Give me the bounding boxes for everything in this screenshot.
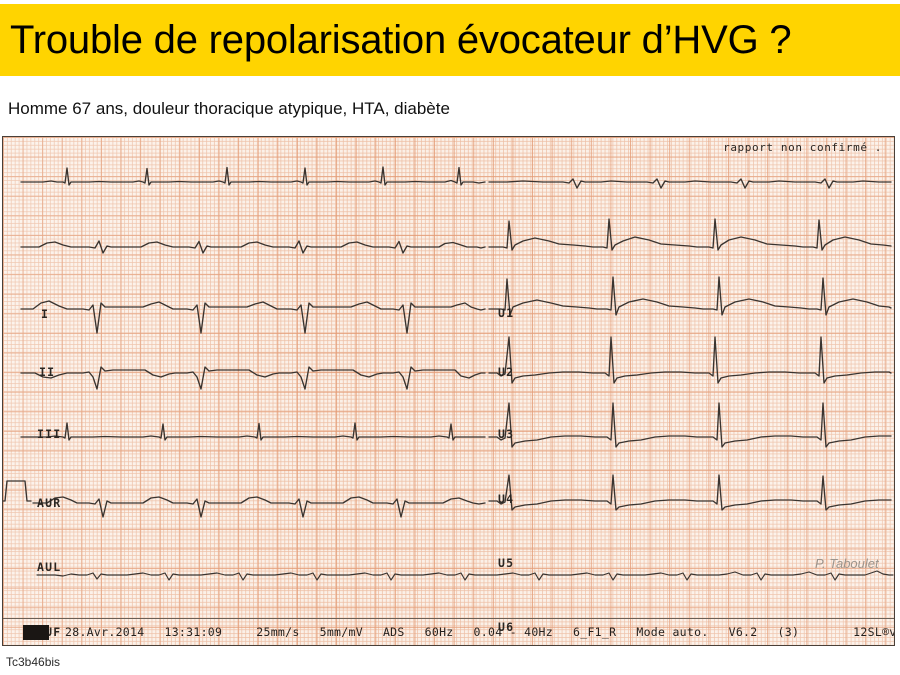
ecg-report-note: rapport non confirmé . (723, 141, 882, 154)
ecg-trace-lead-II (21, 241, 485, 253)
ecg-trace-lead-V4 (489, 337, 891, 383)
ecg-footer-parameters: 28.Avr.2014 13:31:09 25mm/s 5mm/mV ADS 6… (65, 625, 895, 639)
ecg-footer-filter-mode: ADS (383, 625, 405, 639)
lead-label-V1: U1 (498, 306, 514, 320)
ecg-trace-lead-V1 (489, 179, 891, 188)
ecg-waveform-layer (3, 137, 894, 645)
ecg-calibration-block-icon (23, 625, 49, 640)
lead-label-V5: U5 (498, 556, 514, 570)
patient-summary-text: Homme 67 ans, douleur thoracique atypiqu… (8, 99, 450, 119)
lead-label-aVL: AUL (37, 560, 61, 574)
ecg-footer-version: V6.2 (729, 625, 758, 639)
lead-label-I: I (41, 307, 49, 321)
lead-label-V4: U4 (498, 492, 514, 506)
ecg-footer-lead-config: 6_F1_R (573, 625, 616, 639)
ecg-trace-rhythm-strip (37, 571, 893, 580)
ecg-calibration-pulse (3, 481, 31, 501)
slide-title-banner: Trouble de repolarisation évocateur d’HV… (0, 4, 900, 76)
lead-label-V2: U2 (498, 365, 514, 379)
ecg-trace-lead-aVR (21, 367, 485, 389)
ecg-trace-lead-I (21, 167, 485, 185)
ecg-footer-gain: 5mm/mV (320, 625, 363, 639)
ecg-trace-lead-V3 (489, 277, 891, 315)
ecg-trace-lead-V5 (489, 403, 891, 447)
author-watermark: P. Taboulet (815, 556, 879, 571)
ecg-footer-algorithm: 12SL®v231 (853, 625, 895, 639)
ecg-image: rapport non confirmé . I II III AUR AUL … (2, 136, 895, 646)
ecg-footer-time: 13:31:09 (164, 625, 222, 639)
lead-label-III: III (37, 427, 61, 441)
ecg-trace-lead-III (21, 301, 485, 333)
ecg-footer-notch-filter: 60Hz (425, 625, 454, 639)
lead-label-V3: U3 (498, 427, 514, 441)
ecg-trace-lead-V6 (489, 475, 891, 510)
lead-label-II: II (39, 365, 55, 379)
ecg-footer-mode: Mode auto. (636, 625, 708, 639)
slide-reference-code: Tc3b46bis (6, 655, 60, 669)
ecg-footer-paper-speed: 25mm/s (256, 625, 299, 639)
ecg-trace-lead-V2 (489, 219, 891, 250)
ecg-footer-bar: 28.Avr.2014 13:31:09 25mm/s 5mm/mV ADS 6… (3, 618, 894, 645)
ecg-footer-revision: (3) (778, 625, 800, 639)
ecg-footer-date: 28.Avr.2014 (65, 625, 144, 639)
ecg-trace-lead-aVL (21, 423, 485, 440)
ecg-trace-lead-aVF (33, 497, 485, 517)
ecg-waveform-svg (3, 137, 894, 645)
ecg-footer-bandwidth: 0.04 - 40Hz (474, 625, 553, 639)
page-title: Trouble de repolarisation évocateur d’HV… (0, 20, 791, 60)
lead-label-aVR: AUR (37, 496, 61, 510)
